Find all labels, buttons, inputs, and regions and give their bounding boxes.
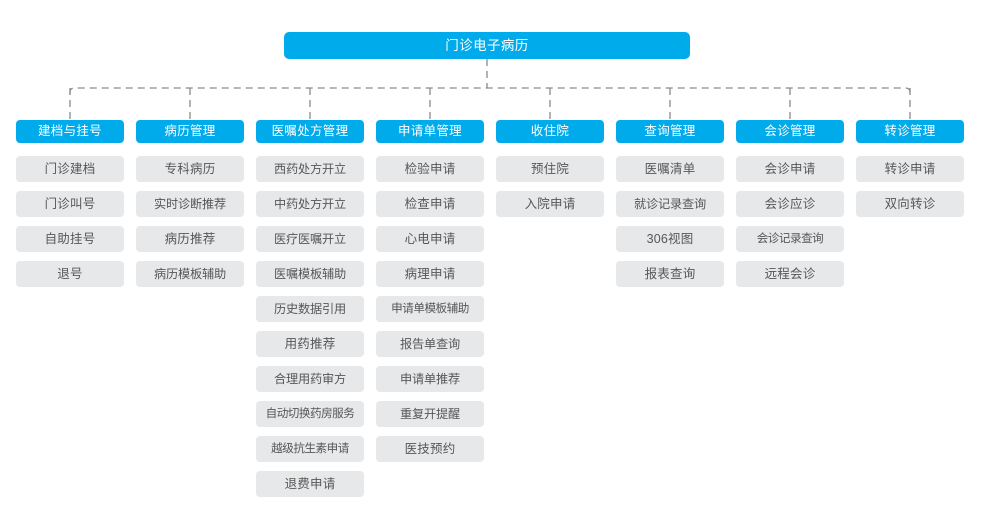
branch-column-2: 病历管理 专科病历 实时诊断推荐 病历推荐 病历模板辅助 <box>136 120 244 296</box>
leaf-node[interactable]: 检验申请 <box>376 156 484 182</box>
leaf-node[interactable]: 门诊建档 <box>16 156 124 182</box>
branch-column-7: 会诊管理 会诊申请 会诊应诊 会诊记录查询 远程会诊 <box>736 120 844 296</box>
leaf-node[interactable]: 报告单查询 <box>376 331 484 357</box>
leaf-node[interactable]: 门诊叫号 <box>16 191 124 217</box>
leaf-node[interactable]: 退号 <box>16 261 124 287</box>
branch-header-referral[interactable]: 转诊管理 <box>856 120 964 143</box>
leaf-node[interactable]: 病理申请 <box>376 261 484 287</box>
branch-column-1: 建档与挂号 门诊建档 门诊叫号 自助挂号 退号 <box>16 120 124 296</box>
leaf-node[interactable]: 会诊申请 <box>736 156 844 182</box>
branch-header-medical-records[interactable]: 病历管理 <box>136 120 244 143</box>
leaf-node[interactable]: 心电申请 <box>376 226 484 252</box>
branch-header-orders-prescriptions[interactable]: 医嘱处方管理 <box>256 120 364 143</box>
branch-items-6: 医嘱清单 就诊记录查询 306视图 报表查询 <box>616 156 724 287</box>
branch-column-4: 申请单管理 检验申请 检查申请 心电申请 病理申请 申请单模板辅助 报告单查询 … <box>376 120 484 471</box>
leaf-node[interactable]: 就诊记录查询 <box>616 191 724 217</box>
leaf-node[interactable]: 合理用药审方 <box>256 366 364 392</box>
leaf-node[interactable]: 实时诊断推荐 <box>136 191 244 217</box>
branch-items-5: 预住院 入院申请 <box>496 156 604 217</box>
branch-items-3: 西药处方开立 中药处方开立 医疗医嘱开立 医嘱模板辅助 历史数据引用 用药推荐 … <box>256 156 364 497</box>
leaf-node[interactable]: 报表查询 <box>616 261 724 287</box>
leaf-node[interactable]: 申请单模板辅助 <box>376 296 484 322</box>
leaf-node[interactable]: 用药推荐 <box>256 331 364 357</box>
branch-columns: 建档与挂号 门诊建档 门诊叫号 自助挂号 退号 病历管理 专科病历 实时诊断推荐… <box>0 0 985 517</box>
leaf-node[interactable]: 申请单推荐 <box>376 366 484 392</box>
branch-items-7: 会诊申请 会诊应诊 会诊记录查询 远程会诊 <box>736 156 844 287</box>
leaf-node[interactable]: 检查申请 <box>376 191 484 217</box>
branch-header-query-management[interactable]: 查询管理 <box>616 120 724 143</box>
leaf-node[interactable]: 远程会诊 <box>736 261 844 287</box>
leaf-node[interactable]: 医技预约 <box>376 436 484 462</box>
branch-items-2: 专科病历 实时诊断推荐 病历推荐 病历模板辅助 <box>136 156 244 287</box>
leaf-node[interactable]: 医疗医嘱开立 <box>256 226 364 252</box>
leaf-node[interactable]: 预住院 <box>496 156 604 182</box>
leaf-node[interactable]: 自助挂号 <box>16 226 124 252</box>
functional-architecture-diagram: 门诊电子病历 建档与挂号 门诊建档 门诊叫号 自助挂号 退号 <box>0 0 985 517</box>
branch-header-request-forms[interactable]: 申请单管理 <box>376 120 484 143</box>
leaf-node[interactable]: 退费申请 <box>256 471 364 497</box>
branch-column-5: 收住院 预住院 入院申请 <box>496 120 604 226</box>
branch-column-8: 转诊管理 转诊申请 双向转诊 <box>856 120 964 226</box>
leaf-node[interactable]: 西药处方开立 <box>256 156 364 182</box>
leaf-node[interactable]: 双向转诊 <box>856 191 964 217</box>
branch-column-3: 医嘱处方管理 西药处方开立 中药处方开立 医疗医嘱开立 医嘱模板辅助 历史数据引… <box>256 120 364 506</box>
leaf-node[interactable]: 重复开提醒 <box>376 401 484 427</box>
branch-header-consultation[interactable]: 会诊管理 <box>736 120 844 143</box>
leaf-node[interactable]: 医嘱清单 <box>616 156 724 182</box>
leaf-node[interactable]: 自动切换药房服务 <box>256 401 364 427</box>
branch-header-admission[interactable]: 收住院 <box>496 120 604 143</box>
branch-items-4: 检验申请 检查申请 心电申请 病理申请 申请单模板辅助 报告单查询 申请单推荐 … <box>376 156 484 462</box>
leaf-node[interactable]: 转诊申请 <box>856 156 964 182</box>
leaf-node[interactable]: 专科病历 <box>136 156 244 182</box>
leaf-node[interactable]: 越级抗生素申请 <box>256 436 364 462</box>
leaf-node[interactable]: 306视图 <box>616 226 724 252</box>
leaf-node[interactable]: 历史数据引用 <box>256 296 364 322</box>
leaf-node[interactable]: 会诊记录查询 <box>736 226 844 252</box>
branch-items-1: 门诊建档 门诊叫号 自助挂号 退号 <box>16 156 124 287</box>
leaf-node[interactable]: 医嘱模板辅助 <box>256 261 364 287</box>
leaf-node[interactable]: 会诊应诊 <box>736 191 844 217</box>
leaf-node[interactable]: 入院申请 <box>496 191 604 217</box>
branch-items-8: 转诊申请 双向转诊 <box>856 156 964 217</box>
leaf-node[interactable]: 中药处方开立 <box>256 191 364 217</box>
branch-column-6: 查询管理 医嘱清单 就诊记录查询 306视图 报表查询 <box>616 120 724 296</box>
branch-header-registration[interactable]: 建档与挂号 <box>16 120 124 143</box>
leaf-node[interactable]: 病历模板辅助 <box>136 261 244 287</box>
leaf-node[interactable]: 病历推荐 <box>136 226 244 252</box>
